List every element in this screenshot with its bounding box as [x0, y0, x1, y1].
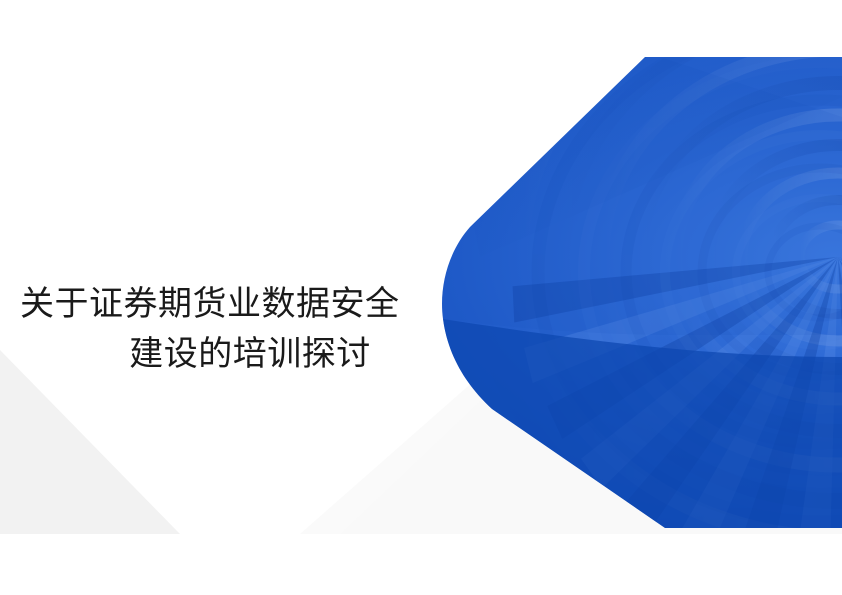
page-margin-top	[0, 0, 842, 57]
slide-background-artwork	[0, 57, 842, 534]
title-slide: 关于证券期货业数据安全 建设的培训探讨	[0, 0, 842, 595]
slide-canvas: 关于证券期货业数据安全 建设的培训探讨	[0, 57, 842, 534]
page-margin-bottom	[0, 534, 842, 595]
